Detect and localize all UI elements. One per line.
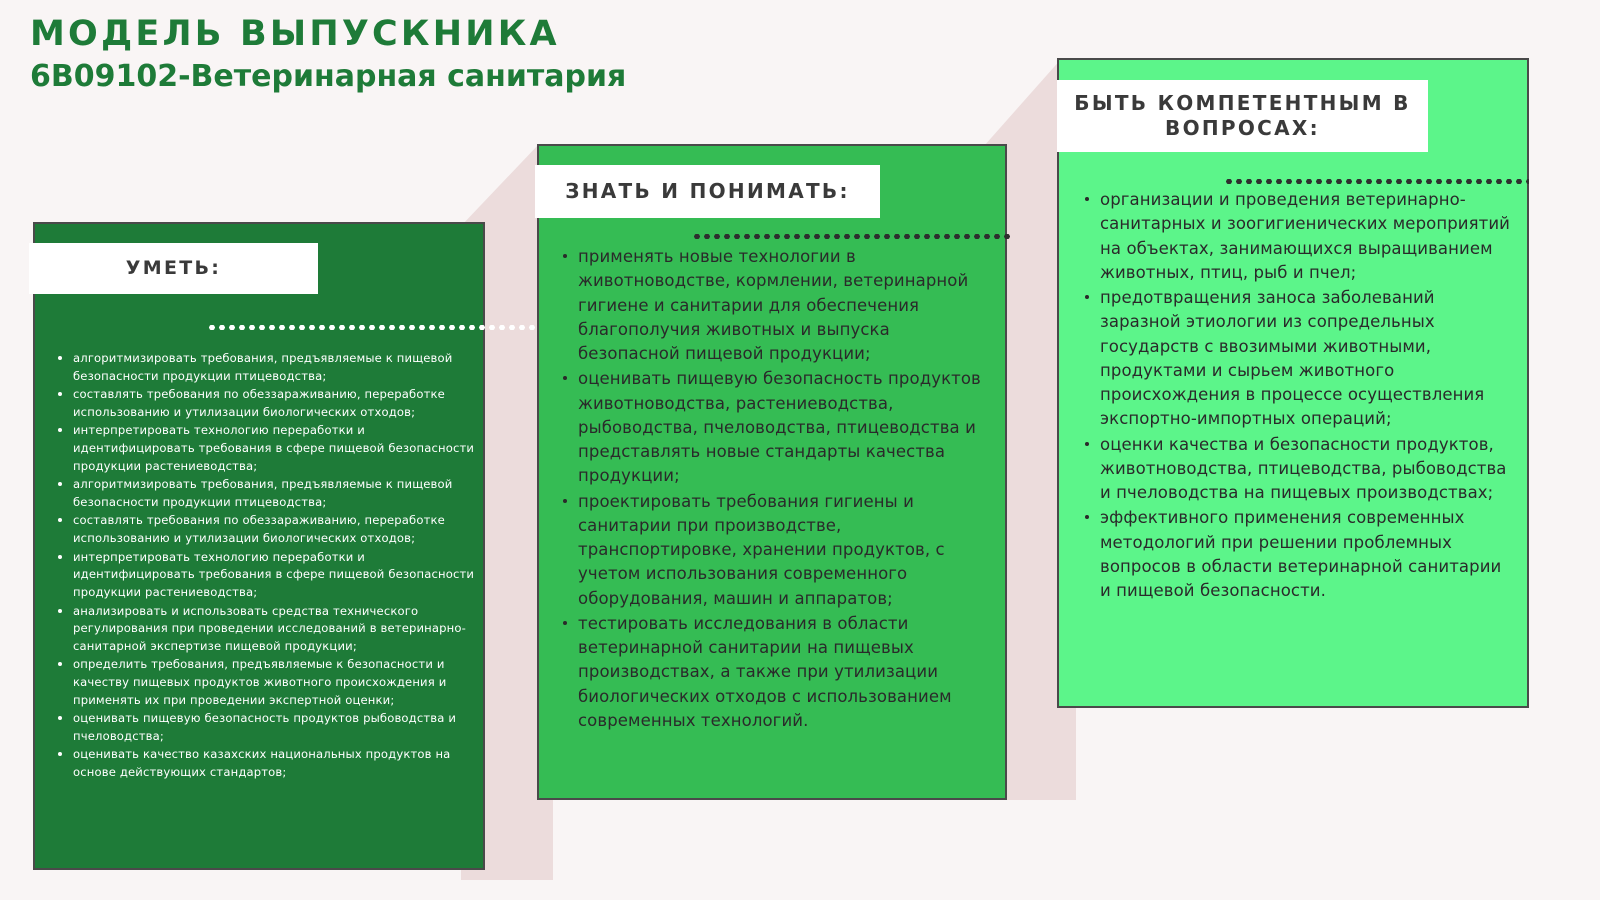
list-item: тестировать исследования в области ветер… [560, 612, 990, 733]
header-box-znat: ЗНАТЬ И ПОНИМАТЬ: [535, 165, 880, 218]
list-item: эффективного применения современных мето… [1082, 506, 1512, 603]
header-box-compet: БЫТЬ КОМПЕТЕНТНЫМ В ВОПРОСАХ: [1057, 80, 1428, 152]
header-box-umet: УМЕТЬ: [29, 243, 318, 294]
list-item: оценки качества и безопасности продуктов… [1082, 433, 1512, 506]
title-line-1: МОДЕЛЬ ВЫПУСКНИКА [30, 14, 626, 55]
list-item: составлять требования по обеззараживанию… [55, 512, 475, 547]
dotted-divider-compet [1224, 179, 1529, 184]
header-label-znat: ЗНАТЬ И ПОНИМАТЬ: [565, 179, 850, 204]
list-item: применять новые технологии в животноводс… [560, 245, 990, 366]
header-label-umet: УМЕТЬ: [126, 257, 221, 281]
header-label-compet: БЫТЬ КОМПЕТЕНТНЫМ В ВОПРОСАХ: [1057, 91, 1428, 141]
bullet-list-umet: алгоритмизировать требования, предъявляе… [55, 350, 475, 783]
list-item: составлять требования по обеззараживанию… [55, 386, 475, 421]
list-item: интерпретировать технологию переработки … [55, 549, 475, 602]
bullet-list-znat: применять новые технологии в животноводс… [560, 245, 990, 734]
list-item: организации и проведения ветеринарно-сан… [1082, 188, 1512, 285]
dotted-divider-umet [207, 325, 537, 330]
list-item: проектировать требования гигиены и санит… [560, 490, 990, 611]
list-item: анализировать и использовать средства те… [55, 603, 475, 656]
list-item: определить требования, предъявляемые к б… [55, 656, 475, 709]
list-item: алгоритмизировать требования, предъявляе… [55, 350, 475, 385]
infographic-canvas: МОДЕЛЬ ВЫПУСКНИКА 6B09102-Ветеринарная с… [0, 0, 1600, 900]
dotted-divider-znat [692, 234, 1010, 239]
list-item: предотвращения заноса заболеваний заразн… [1082, 286, 1512, 432]
list-item: оценивать пищевую безопасность продуктов… [55, 710, 475, 745]
list-item: алгоритмизировать требования, предъявляе… [55, 476, 475, 511]
title-line-2: 6B09102-Ветеринарная санитария [30, 59, 626, 95]
bullet-list-compet: организации и проведения ветеринарно-сан… [1082, 188, 1512, 604]
list-item: оценивать пищевую безопасность продуктов… [560, 367, 990, 488]
list-item: оценивать качество казахских национальны… [55, 746, 475, 781]
page-title: МОДЕЛЬ ВЫПУСКНИКА 6B09102-Ветеринарная с… [30, 14, 626, 95]
list-item: интерпретировать технологию переработки … [55, 422, 475, 475]
